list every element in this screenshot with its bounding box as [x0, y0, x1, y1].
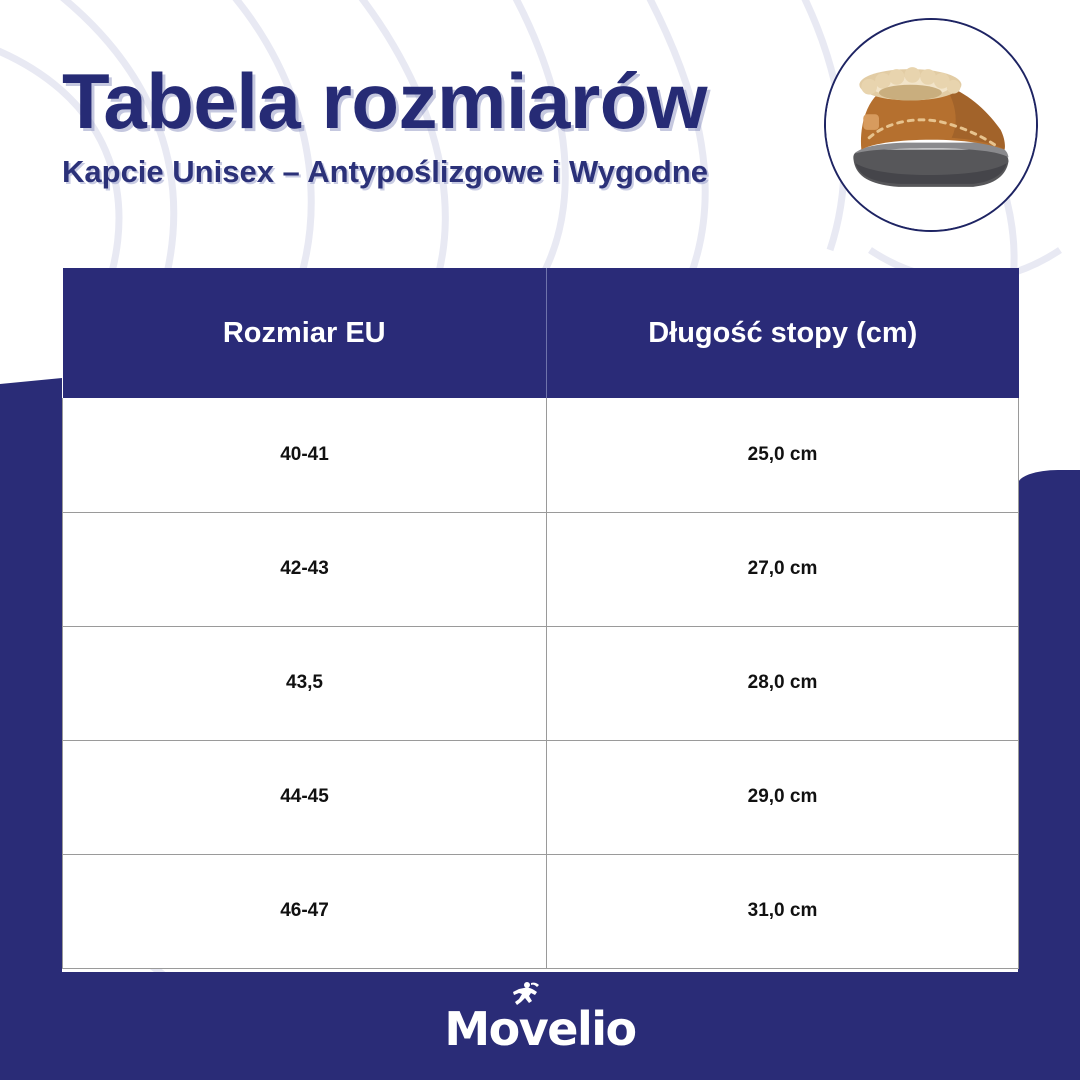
- table-row: 42-43 27,0 cm: [63, 512, 1019, 626]
- cell-foot-length: 28,0 cm: [547, 626, 1019, 740]
- column-header-eu-size: Rozmiar EU: [63, 268, 547, 398]
- running-figure-icon: [510, 981, 540, 1007]
- logo-wrap: Movelio: [444, 1002, 635, 1056]
- title-block: Tabela rozmiarów Kapcie Unisex – Antypoś…: [62, 62, 822, 190]
- column-header-foot-length: Długość stopy (cm): [547, 268, 1019, 398]
- table-row: 46-47 31,0 cm: [63, 854, 1019, 968]
- cell-eu-size: 42-43: [63, 512, 547, 626]
- page-title: Tabela rozmiarów: [62, 62, 822, 142]
- right-navy-accent-bar: [1018, 470, 1080, 978]
- cell-eu-size: 43,5: [63, 626, 547, 740]
- table-row: 40-41 25,0 cm: [63, 398, 1019, 512]
- table-header-row: Rozmiar EU Długość stopy (cm): [63, 268, 1019, 398]
- cell-eu-size: 40-41: [63, 398, 547, 512]
- page-subtitle: Kapcie Unisex – Antypoślizgowe i Wygodne: [62, 154, 822, 190]
- table-row: 44-45 29,0 cm: [63, 740, 1019, 854]
- size-chart-table: Rozmiar EU Długość stopy (cm) 40-41 25,0…: [62, 268, 1019, 969]
- left-navy-accent-bar: [0, 378, 62, 978]
- cell-foot-length: 25,0 cm: [547, 398, 1019, 512]
- cell-foot-length: 29,0 cm: [547, 740, 1019, 854]
- slipper-product-photo: [824, 18, 1038, 232]
- footer-logo: Movelio: [0, 1000, 1080, 1058]
- cell-eu-size: 46-47: [63, 854, 547, 968]
- cell-foot-length: 31,0 cm: [547, 854, 1019, 968]
- cell-foot-length: 27,0 cm: [547, 512, 1019, 626]
- brand-name: Movelio: [444, 1002, 635, 1056]
- table-row: 43,5 28,0 cm: [63, 626, 1019, 740]
- cell-eu-size: 44-45: [63, 740, 547, 854]
